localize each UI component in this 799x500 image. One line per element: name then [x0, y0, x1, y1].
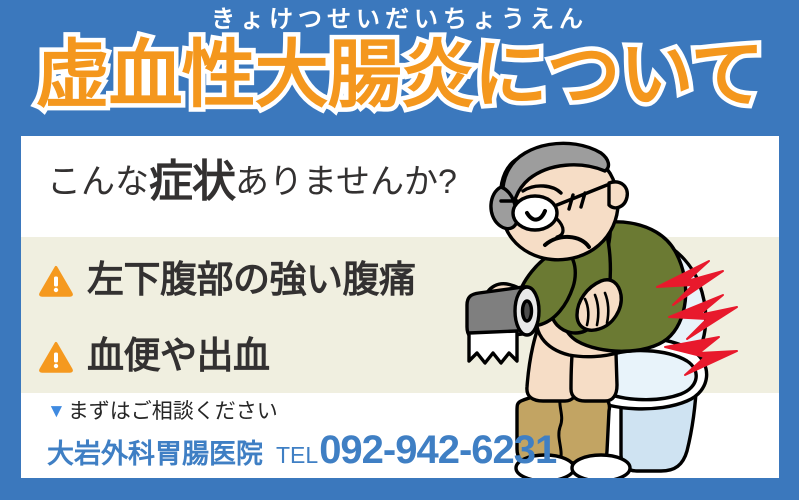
symptom-label: 血便や出血 [87, 337, 270, 374]
toilet-paper-roll [467, 287, 539, 363]
list-item: 血便や出血 [39, 324, 416, 386]
symptom-list: 左下腹部の強い腹痛 血便や出血 [39, 248, 416, 400]
list-item: 左下腹部の強い腹痛 [39, 248, 416, 310]
phone-number[interactable]: 092-942-6231 [319, 428, 556, 473]
question-prefix: こんな [47, 163, 149, 201]
symptom-label: 左下腹部の強い腹痛 [87, 261, 416, 298]
content-card: こんな症状ありませんか? 左下腹部の強い腹痛 血便や出血 [21, 136, 779, 478]
warning-triangle-icon [39, 340, 73, 374]
clinic-name: 大岩外科胃腸医院 [47, 432, 263, 471]
page-title: 虚血性大腸炎について [0, 38, 799, 112]
tel-label: TEL [276, 442, 318, 469]
question-suffix: ありませんか? [235, 163, 457, 201]
consult-text: まずはご相談ください [68, 401, 278, 422]
ear [609, 182, 627, 208]
header-banner: きょけつせいだいちょうえん 虚血性大腸炎について [0, 0, 799, 136]
question-emphasis: 症状 [149, 157, 235, 206]
glasses-left-lens [513, 196, 557, 230]
title-furigana: きょけつせいだいちょうえん [0, 8, 799, 32]
warning-triangle-icon [39, 264, 73, 298]
consult-line: ▼ まずはご相談ください [47, 401, 556, 422]
question-heading: こんな症状ありませんか? [47, 160, 457, 204]
clinic-contact-line[interactable]: 大岩外科胃腸医院 TEL 092-942-6231 [47, 428, 556, 473]
right-shoe [572, 455, 630, 478]
triangle-down-icon: ▼ [47, 402, 66, 421]
contact-footer: ▼ まずはご相談ください 大岩外科胃腸医院 TEL 092-942-6231 [47, 401, 556, 473]
